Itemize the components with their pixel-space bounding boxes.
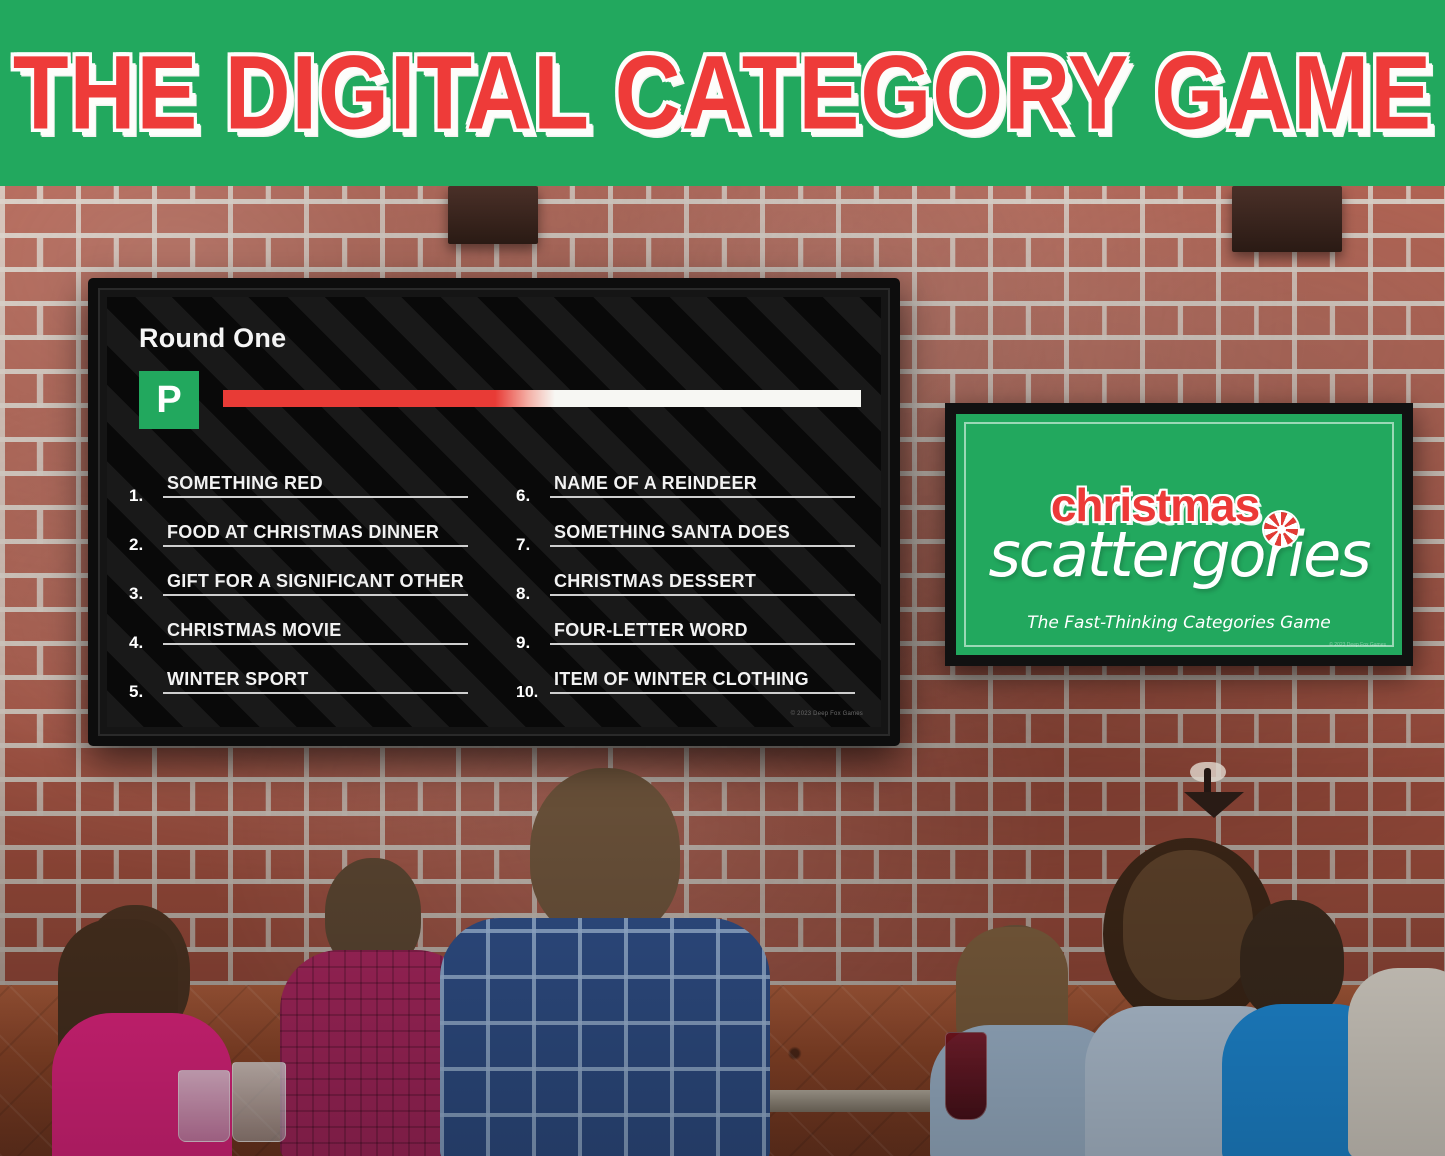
category-number: 6. bbox=[516, 486, 530, 506]
timer-bar-fill bbox=[223, 390, 555, 407]
category-row[interactable]: 10. ITEM OF WINTER CLOTHING bbox=[516, 655, 863, 704]
drinking-glass bbox=[232, 1062, 286, 1142]
page-title: THE DIGITAL CATEGORY GAME bbox=[13, 41, 1432, 146]
category-answer-line[interactable] bbox=[550, 643, 855, 645]
category-label: WINTER SPORT bbox=[167, 669, 309, 690]
category-number: 9. bbox=[516, 633, 530, 653]
category-answer-line[interactable] bbox=[163, 545, 468, 547]
category-label: SOMETHING SANTA DOES bbox=[554, 522, 790, 543]
category-row[interactable]: 9. FOUR-LETTER WORD bbox=[516, 606, 863, 655]
category-answer-line[interactable] bbox=[550, 692, 855, 694]
game-logo-panel: christmas scattergories The Fast-Thinkin… bbox=[945, 403, 1413, 666]
category-row[interactable]: 2. FOOD AT CHRISTMAS DINNER bbox=[129, 508, 476, 557]
category-answer-line[interactable] bbox=[163, 643, 468, 645]
drinking-glass bbox=[178, 1070, 230, 1142]
category-number: 7. bbox=[516, 535, 530, 555]
logo-tagline: The Fast-Thinking Categories Game bbox=[956, 613, 1402, 633]
tv-screen: Round One P 1. SOMETHING RED 2. FOOD AT … bbox=[107, 297, 881, 727]
peppermint-candy-icon bbox=[1264, 512, 1298, 546]
category-number: 1. bbox=[129, 486, 143, 506]
category-row[interactable]: 5. WINTER SPORT bbox=[129, 655, 476, 704]
category-number: 10. bbox=[516, 684, 538, 702]
tv-copyright: © 2023 Deep Fox Games bbox=[791, 711, 863, 717]
round-title: Round One bbox=[139, 323, 286, 354]
category-answer-line[interactable] bbox=[163, 692, 468, 694]
category-column-left: 1. SOMETHING RED 2. FOOD AT CHRISTMAS DI… bbox=[107, 459, 494, 704]
category-label: FOOD AT CHRISTMAS DINNER bbox=[167, 522, 439, 543]
category-number: 4. bbox=[129, 633, 143, 653]
category-label: ITEM OF WINTER CLOTHING bbox=[554, 669, 809, 690]
timer-bar bbox=[223, 390, 861, 407]
category-row[interactable]: 4. CHRISTMAS MOVIE bbox=[129, 606, 476, 655]
category-answer-line[interactable] bbox=[163, 594, 468, 596]
wall-shelf-right bbox=[1232, 186, 1342, 252]
category-label: GIFT FOR A SIGNIFICANT OTHER bbox=[167, 571, 464, 592]
person-7 bbox=[1348, 968, 1445, 1156]
poster-stage: THE DIGITAL CATEGORY GAME bbox=[0, 0, 1445, 1156]
category-row[interactable]: 1. SOMETHING RED bbox=[129, 459, 476, 508]
game-logo: christmas scattergories The Fast-Thinkin… bbox=[956, 414, 1402, 655]
category-answer-line[interactable] bbox=[163, 496, 468, 498]
category-label: SOMETHING RED bbox=[167, 473, 323, 494]
category-row[interactable]: 7. SOMETHING SANTA DOES bbox=[516, 508, 863, 557]
letter-tile-value: P bbox=[156, 381, 181, 419]
letter-tile: P bbox=[139, 371, 199, 429]
logo-word-row: scattergories bbox=[988, 522, 1369, 587]
category-label: CHRISTMAS MOVIE bbox=[167, 620, 342, 641]
category-column-right: 6. NAME OF A REINDEER 7. SOMETHING SANTA… bbox=[494, 459, 881, 704]
category-label: FOUR-LETTER WORD bbox=[554, 620, 748, 641]
logo-copyright: © 2023 Deep Fox Games bbox=[1329, 642, 1386, 648]
category-number: 3. bbox=[129, 584, 143, 604]
category-row[interactable]: 8. CHRISTMAS DESSERT bbox=[516, 557, 863, 606]
category-number: 5. bbox=[129, 682, 143, 702]
category-label: CHRISTMAS DESSERT bbox=[554, 571, 756, 592]
category-answer-line[interactable] bbox=[550, 545, 855, 547]
category-row[interactable]: 6. NAME OF A REINDEER bbox=[516, 459, 863, 508]
wall-sconce-lamp-icon bbox=[1178, 762, 1250, 826]
category-row[interactable]: 3. GIFT FOR A SIGNIFICANT OTHER bbox=[129, 557, 476, 606]
person-3 bbox=[440, 768, 760, 1156]
wall-mounted-tv: Round One P 1. SOMETHING RED 2. FOOD AT … bbox=[88, 278, 900, 746]
category-answer-line[interactable] bbox=[550, 594, 855, 596]
category-answer-line[interactable] bbox=[550, 496, 855, 498]
category-number: 8. bbox=[516, 584, 530, 604]
category-label: NAME OF A REINDEER bbox=[554, 473, 757, 494]
category-number: 2. bbox=[129, 535, 143, 555]
wall-shelf-left bbox=[448, 186, 538, 244]
logo-word-scattergories: scattergories bbox=[988, 522, 1369, 587]
wine-glass bbox=[945, 1032, 987, 1120]
top-banner: THE DIGITAL CATEGORY GAME bbox=[0, 0, 1445, 186]
category-list: 1. SOMETHING RED 2. FOOD AT CHRISTMAS DI… bbox=[107, 459, 881, 704]
